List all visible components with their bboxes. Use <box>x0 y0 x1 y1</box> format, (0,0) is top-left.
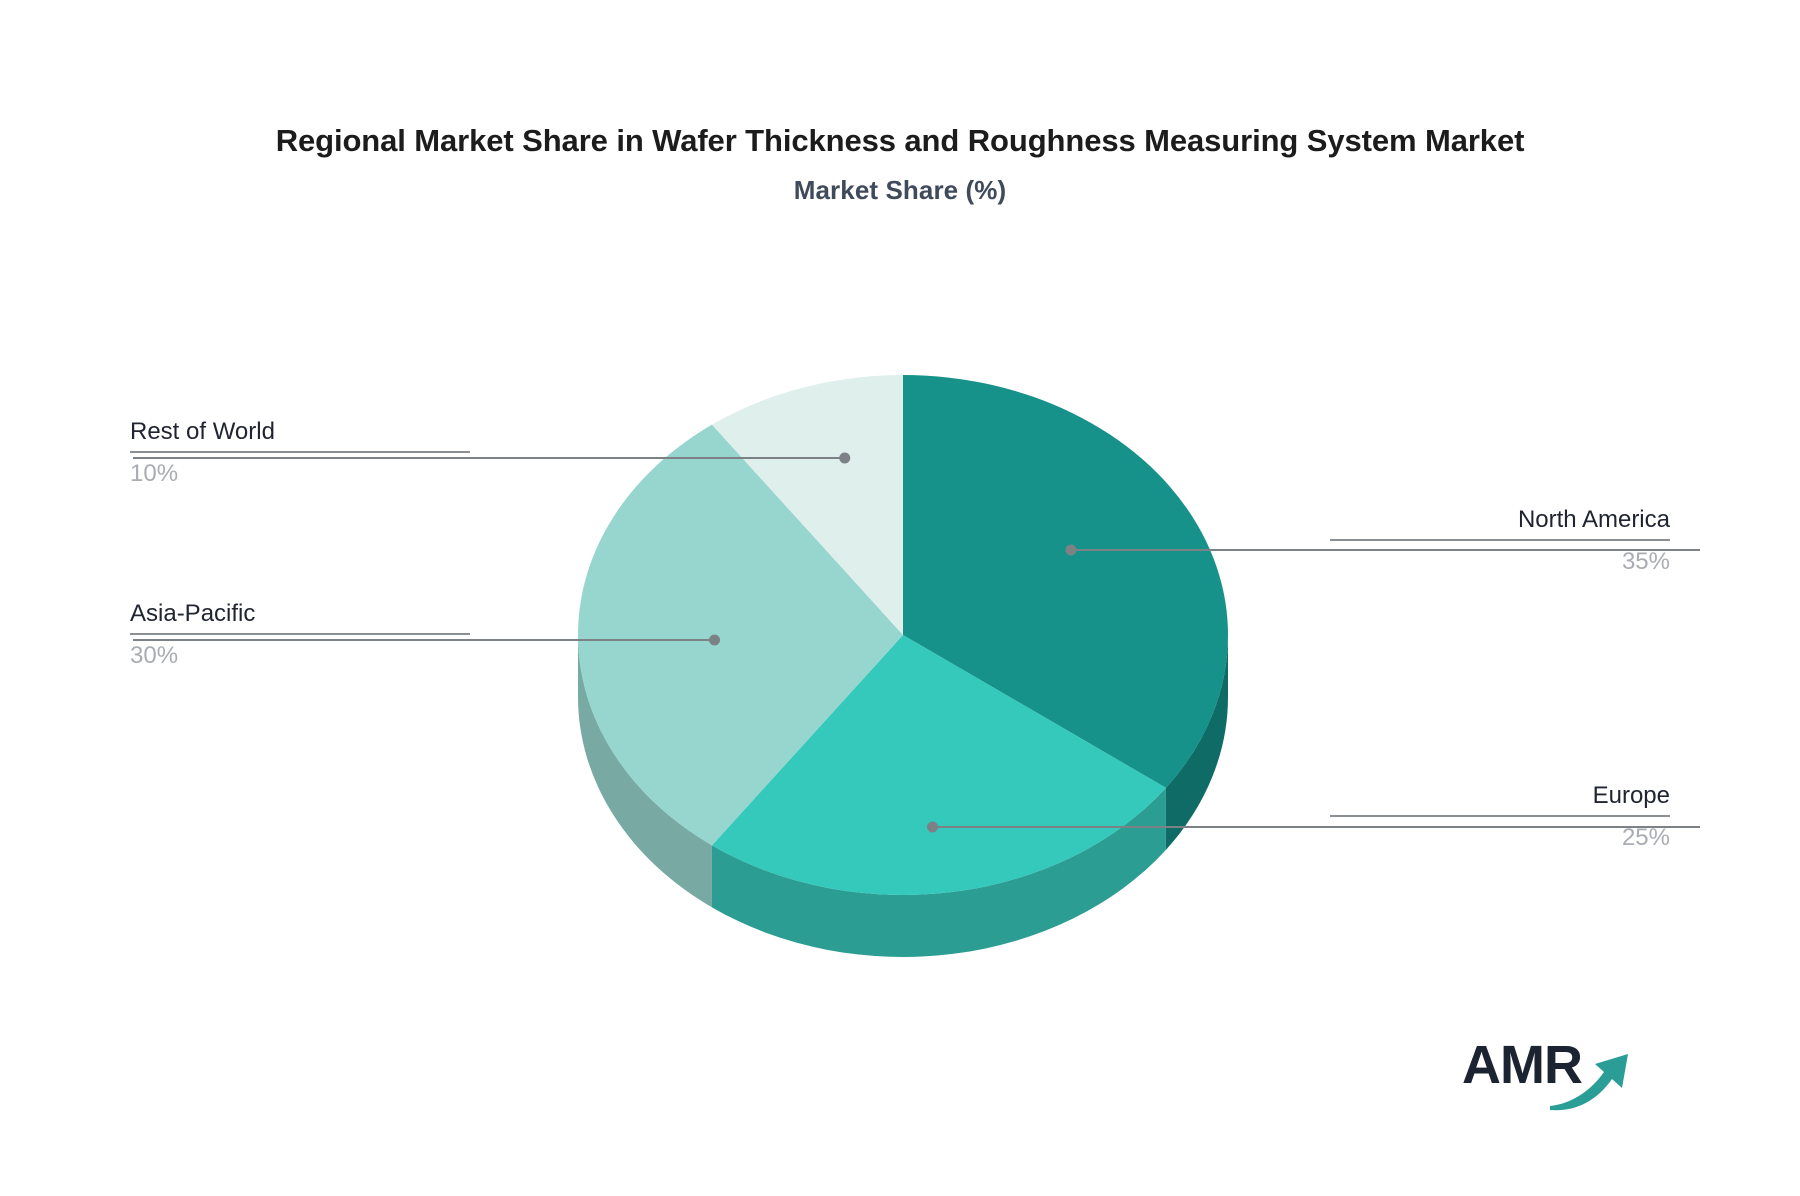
callout-rule <box>130 451 470 453</box>
callout-value: 35% <box>1330 548 1670 576</box>
pie-slices <box>578 375 1228 895</box>
callout-value: 30% <box>130 642 470 670</box>
leader-dot-europe <box>927 822 938 833</box>
leader-dot-north-america <box>1065 545 1076 556</box>
callout-asia-pacific[interactable]: Asia-Pacific 30% <box>130 600 470 669</box>
callout-north-america[interactable]: North America 35% <box>1330 506 1670 575</box>
callout-value: 25% <box>1330 824 1670 852</box>
callout-label: Rest of World <box>130 418 470 446</box>
pie-chart <box>0 0 1800 1196</box>
callout-value: 10% <box>130 460 470 488</box>
callout-label: North America <box>1330 506 1670 534</box>
leader-dot-asia-pacific <box>709 635 720 646</box>
amr-logo: AMR <box>1462 1024 1642 1112</box>
callout-label: Asia-Pacific <box>130 600 470 628</box>
leader-dot-rest-of-world <box>839 453 850 464</box>
callout-rule <box>130 633 470 635</box>
callout-europe[interactable]: Europe 25% <box>1330 782 1670 851</box>
callout-rest-of-world[interactable]: Rest of World 10% <box>130 418 470 487</box>
chart-canvas: Regional Market Share in Wafer Thickness… <box>0 0 1800 1196</box>
growth-arrow-icon <box>1462 1024 1642 1112</box>
callout-rule <box>1330 539 1670 541</box>
callout-label: Europe <box>1330 782 1670 810</box>
callout-rule <box>1330 815 1670 817</box>
